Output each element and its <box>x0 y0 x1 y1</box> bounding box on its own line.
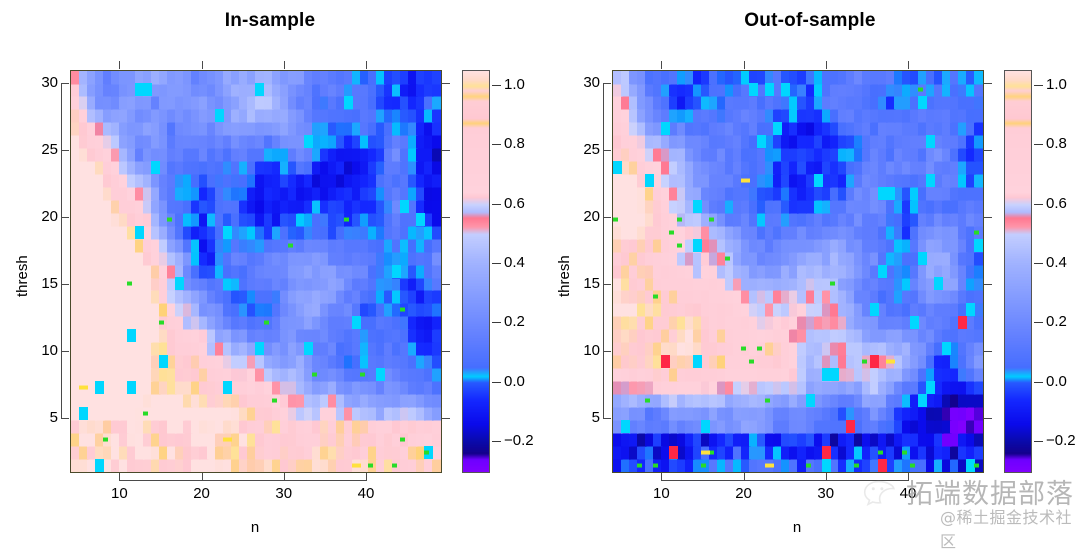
colorbar-tick-label: 0.0 <box>1046 373 1067 390</box>
y-axis-line <box>603 83 604 417</box>
x-axis-tick <box>202 473 203 481</box>
x-axis-tick <box>119 473 120 481</box>
colorbar-tick-label: 0.8 <box>504 135 525 152</box>
colorbar-tick-label: 0.4 <box>504 254 525 271</box>
colorbar-tick <box>1034 85 1043 86</box>
y-axis-label-out-of-sample: thresh <box>556 255 573 297</box>
panel-title-in-sample: In-sample <box>0 10 540 32</box>
y-axis-tick <box>61 83 69 84</box>
x-axis-tick-label: 20 <box>191 485 213 502</box>
x-axis-tick <box>284 473 285 481</box>
x-axis-tick-top <box>366 61 367 69</box>
panel-in-sample: In-sample 1020304051015202530 thresh n −… <box>0 0 540 540</box>
y-axis-tick-right <box>984 284 992 285</box>
y-axis-tick-label: 20 <box>568 208 600 225</box>
colorbar-tick <box>1034 322 1043 323</box>
colorbar-tick <box>1034 144 1043 145</box>
colorbar-tick-label: −0.2 <box>504 432 534 449</box>
colorbar-tick <box>492 144 501 145</box>
heatmap-in-sample <box>70 70 442 473</box>
y-axis-label-in-sample: thresh <box>14 255 31 297</box>
x-axis-tick <box>908 473 909 481</box>
y-axis-tick <box>603 83 611 84</box>
x-axis-tick-label: 30 <box>815 485 837 502</box>
y-axis-tick-label: 20 <box>26 208 58 225</box>
y-axis-tick-right <box>984 418 992 419</box>
x-axis-tick-top <box>284 61 285 69</box>
colorbar-tick <box>1034 382 1043 383</box>
x-axis-tick <box>661 473 662 481</box>
x-axis-tick-label: 10 <box>650 485 672 502</box>
y-axis-tick-right <box>984 351 992 352</box>
x-axis-tick-top <box>661 61 662 69</box>
y-axis-tick-label: 5 <box>26 409 58 426</box>
x-axis-tick-label: 30 <box>273 485 295 502</box>
y-axis-tick-label: 10 <box>26 342 58 359</box>
colorbar-tick-label: 0.2 <box>1046 313 1067 330</box>
y-axis-tick-right <box>984 83 992 84</box>
colorbar-tick-label: 0.2 <box>504 313 525 330</box>
y-axis-tick <box>61 217 69 218</box>
y-axis-tick <box>603 150 611 151</box>
x-axis-tick-top <box>826 61 827 69</box>
y-axis-tick-right <box>984 217 992 218</box>
colorbar-tick <box>492 322 501 323</box>
y-axis-tick-label: 10 <box>568 342 600 359</box>
y-axis-tick-right <box>442 83 450 84</box>
x-axis-tick-top <box>202 61 203 69</box>
x-axis-tick <box>826 473 827 481</box>
colorbar-tick-label: −0.2 <box>1046 432 1076 449</box>
x-axis-tick-label: 10 <box>108 485 130 502</box>
colorbar-tick <box>492 85 501 86</box>
x-axis-tick <box>744 473 745 481</box>
figure-root: In-sample 1020304051015202530 thresh n −… <box>0 0 1080 540</box>
y-axis-tick-right <box>442 150 450 151</box>
panel-title-out-of-sample: Out-of-sample <box>540 10 1080 32</box>
y-axis-tick <box>603 418 611 419</box>
x-axis-tick-label: 20 <box>733 485 755 502</box>
x-axis-tick-label: 40 <box>897 485 919 502</box>
x-axis-tick-top <box>119 61 120 69</box>
x-axis-label-in-sample: n <box>70 519 440 536</box>
y-axis-tick-label: 30 <box>568 74 600 91</box>
y-axis-tick <box>61 284 69 285</box>
y-axis-tick-right <box>442 418 450 419</box>
y-axis-tick-label: 30 <box>26 74 58 91</box>
colorbar-in-sample <box>462 70 490 473</box>
x-axis-tick <box>366 473 367 481</box>
x-axis-tick-top <box>908 61 909 69</box>
y-axis-tick-right <box>984 150 992 151</box>
colorbar-tick <box>1034 204 1043 205</box>
y-axis-tick <box>603 284 611 285</box>
y-axis-tick <box>61 351 69 352</box>
colorbar-tick-label: 0.6 <box>1046 195 1067 212</box>
x-axis-tick-top <box>744 61 745 69</box>
colorbar-tick-label: 0.4 <box>1046 254 1067 271</box>
y-axis-tick <box>603 217 611 218</box>
colorbar-tick <box>492 382 501 383</box>
x-axis-label-out-of-sample: n <box>612 519 982 536</box>
y-axis-tick-right <box>442 351 450 352</box>
x-axis-tick-label: 40 <box>355 485 377 502</box>
y-axis-tick-label: 25 <box>26 141 58 158</box>
y-axis-tick-label: 25 <box>568 141 600 158</box>
y-axis-tick <box>61 150 69 151</box>
colorbar-tick-label: 0.8 <box>1046 135 1067 152</box>
y-axis-line <box>61 83 62 417</box>
y-axis-tick <box>603 351 611 352</box>
colorbar-tick-label: 1.0 <box>1046 76 1067 93</box>
y-axis-tick-right <box>442 284 450 285</box>
colorbar-out-of-sample <box>1004 70 1032 473</box>
y-axis-tick-label: 5 <box>568 409 600 426</box>
colorbar-tick-label: 0.6 <box>504 195 525 212</box>
x-axis-line <box>119 480 366 481</box>
colorbar-tick-label: 1.0 <box>504 76 525 93</box>
colorbar-tick <box>492 263 501 264</box>
x-axis-line <box>661 480 908 481</box>
colorbar-tick <box>492 204 501 205</box>
colorbar-tick <box>1034 441 1043 442</box>
y-axis-tick-right <box>442 217 450 218</box>
colorbar-tick <box>1034 263 1043 264</box>
y-axis-tick <box>61 418 69 419</box>
colorbar-tick <box>492 441 501 442</box>
colorbar-tick-label: 0.0 <box>504 373 525 390</box>
heatmap-out-of-sample <box>612 70 984 473</box>
